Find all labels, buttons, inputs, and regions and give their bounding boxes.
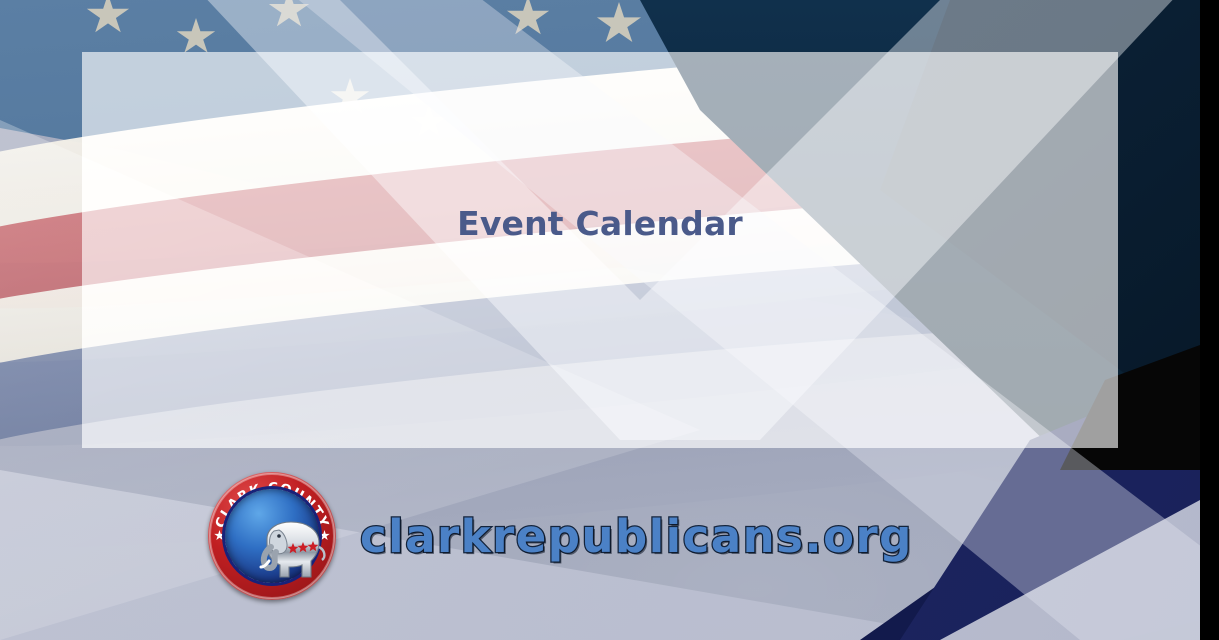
seal-inner-disc [225, 489, 319, 583]
logo-lockup[interactable]: CLARK COUNTY REPUBLICAN PARTY [208, 472, 913, 600]
background-black-right-edge [1200, 0, 1219, 640]
website-url-text[interactable]: clarkrepublicans.org [360, 514, 913, 559]
republican-elephant-icon [249, 517, 331, 585]
content-card: Event Calendar [82, 52, 1118, 448]
banner-stage: Event Calendar CLARK COUNTY REPUBLICAN P… [0, 0, 1219, 640]
page-title: Event Calendar [82, 204, 1118, 243]
clark-county-republican-party-seal-icon[interactable]: CLARK COUNTY REPUBLICAN PARTY [208, 472, 336, 600]
